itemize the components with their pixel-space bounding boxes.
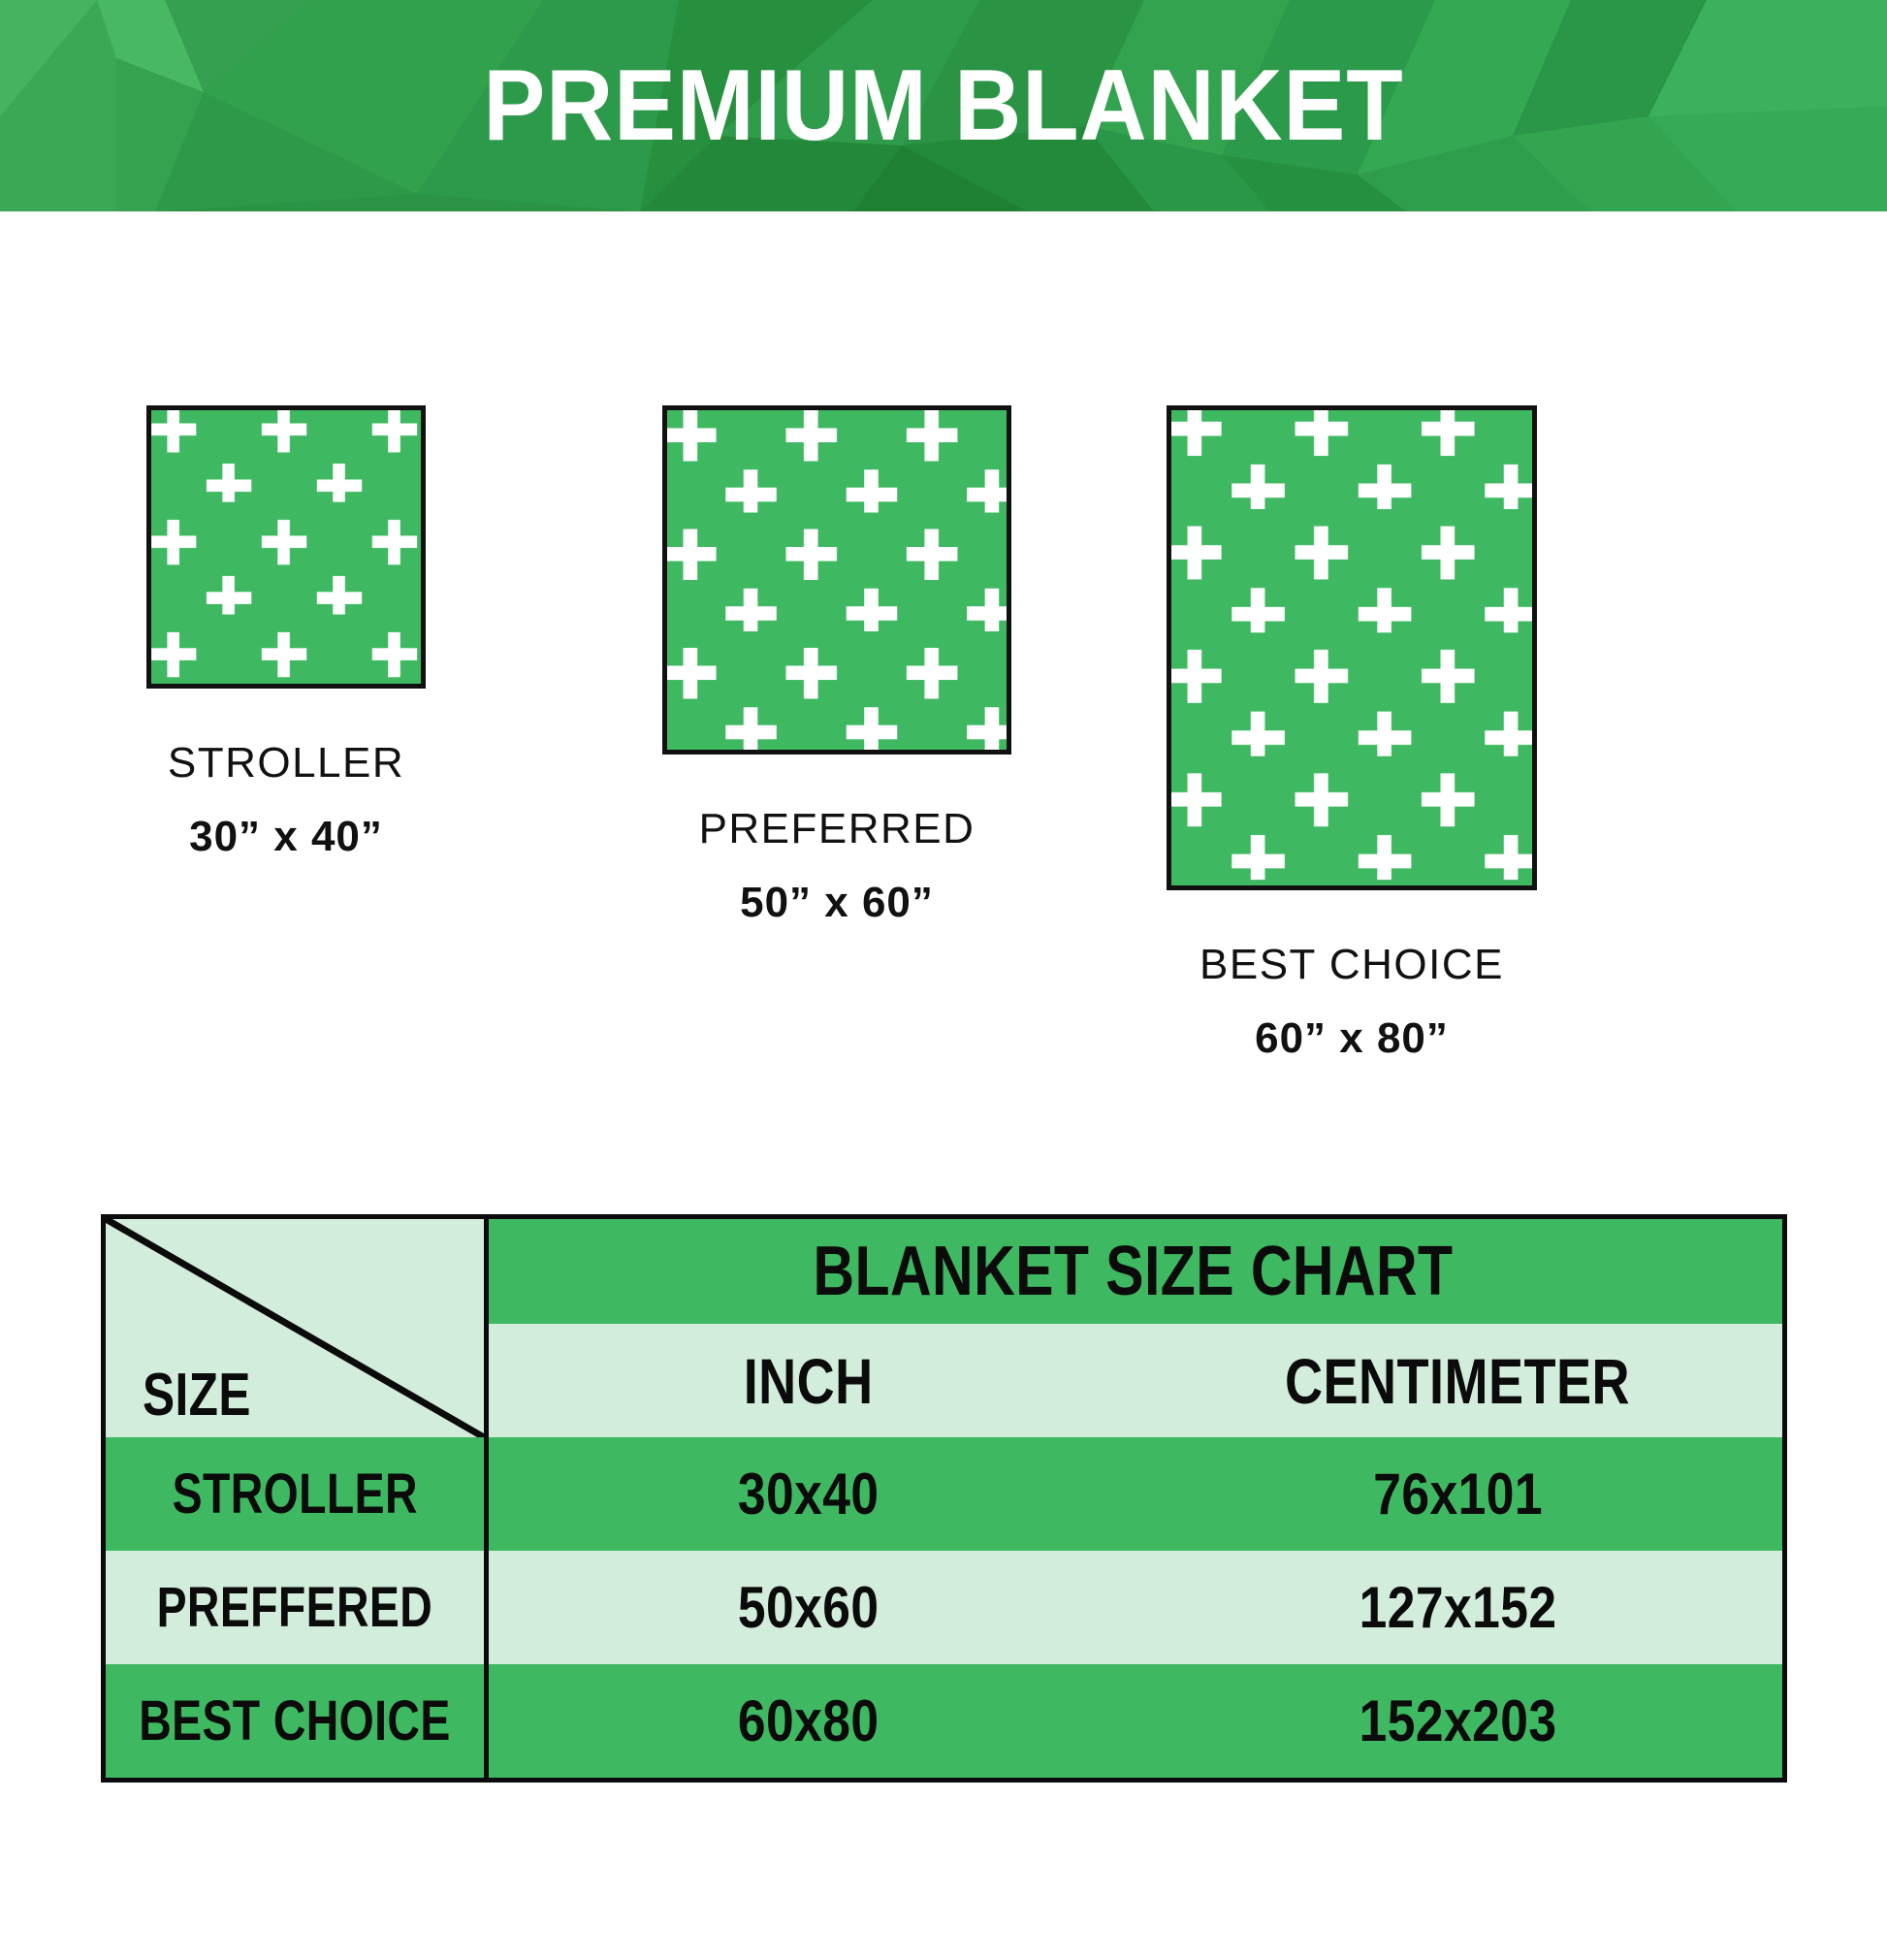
swatch-group-preferred: PREFERRED 50” x 60” <box>590 405 1084 927</box>
plus-pattern <box>1171 410 1532 885</box>
cell-inch: 60x80 <box>484 1664 1134 1778</box>
column-header-inch-label: INCH <box>744 1344 874 1418</box>
cell-centimeter: 152x203 <box>1134 1664 1783 1778</box>
blanket-swatch-preferred <box>662 405 1011 755</box>
cell-size: BEST CHOICE <box>106 1664 484 1778</box>
cell-centimeter-value: 152x203 <box>1359 1687 1556 1754</box>
plus-pattern <box>667 410 1007 750</box>
swatch-label-name: PREFERRED <box>590 805 1084 853</box>
cell-size: PREFFERED <box>106 1551 484 1664</box>
swatch-row: STROLLER 30” x 40” PRE <box>0 211 1887 1142</box>
cell-centimeter: 127x152 <box>1134 1551 1783 1664</box>
plus-pattern <box>151 410 421 684</box>
swatch-label-dimensions: 50” x 60” <box>590 879 1084 927</box>
column-header-inch: INCH <box>484 1324 1134 1437</box>
table-title: BLANKET SIZE CHART <box>813 1232 1453 1311</box>
cell-size-label: PREFFERED <box>157 1575 433 1640</box>
table-row: STROLLER 30x40 76x101 <box>106 1437 1782 1551</box>
cell-inch: 50x60 <box>484 1551 1134 1664</box>
cell-inch-value: 50x60 <box>738 1574 880 1641</box>
column-header-centimeter: CENTIMETER <box>1134 1324 1783 1437</box>
swatch-group-stroller: STROLLER 30” x 40” <box>39 405 533 861</box>
table-column-headers: INCH CENTIMETER <box>484 1324 1782 1437</box>
cell-centimeter-value: 127x152 <box>1359 1574 1556 1641</box>
blanket-swatch-stroller <box>146 405 426 689</box>
cell-size: STROLLER <box>106 1437 484 1551</box>
page-title: PREMIUM BLANKET <box>76 0 1811 211</box>
swatch-group-best-choice: BEST CHOICE 60” x 80” <box>1071 405 1633 1063</box>
column-header-centimeter-label: CENTIMETER <box>1285 1344 1630 1418</box>
blanket-swatch-best-choice <box>1167 405 1537 890</box>
table-corner-cell: SIZE <box>106 1219 484 1437</box>
cell-inch-value: 60x80 <box>738 1687 880 1754</box>
cell-inch-value: 30x40 <box>738 1461 880 1527</box>
cell-centimeter-value: 76x101 <box>1373 1461 1543 1527</box>
cell-inch: 30x40 <box>484 1437 1134 1551</box>
swatch-label-name: STROLLER <box>39 739 533 787</box>
cell-size-label: STROLLER <box>172 1462 417 1526</box>
table-column-divider <box>484 1219 489 1778</box>
table-corner-label: SIZE <box>143 1361 251 1430</box>
table-title-band: BLANKET SIZE CHART <box>484 1219 1782 1324</box>
table-row: BEST CHOICE 60x80 152x203 <box>106 1664 1782 1778</box>
swatch-label-dimensions: 30” x 40” <box>39 813 533 861</box>
cell-size-label: BEST CHOICE <box>139 1688 451 1753</box>
blanket-size-chart-table: SIZE BLANKET SIZE CHART INCH CENTIMETER … <box>101 1214 1787 1783</box>
cell-centimeter: 76x101 <box>1134 1437 1783 1551</box>
swatch-label-dimensions: 60” x 80” <box>1071 1014 1633 1063</box>
swatch-label-name: BEST CHOICE <box>1071 941 1633 989</box>
table-row: PREFFERED 50x60 127x152 <box>106 1551 1782 1664</box>
header-banner: PREMIUM BLANKET <box>0 0 1887 211</box>
